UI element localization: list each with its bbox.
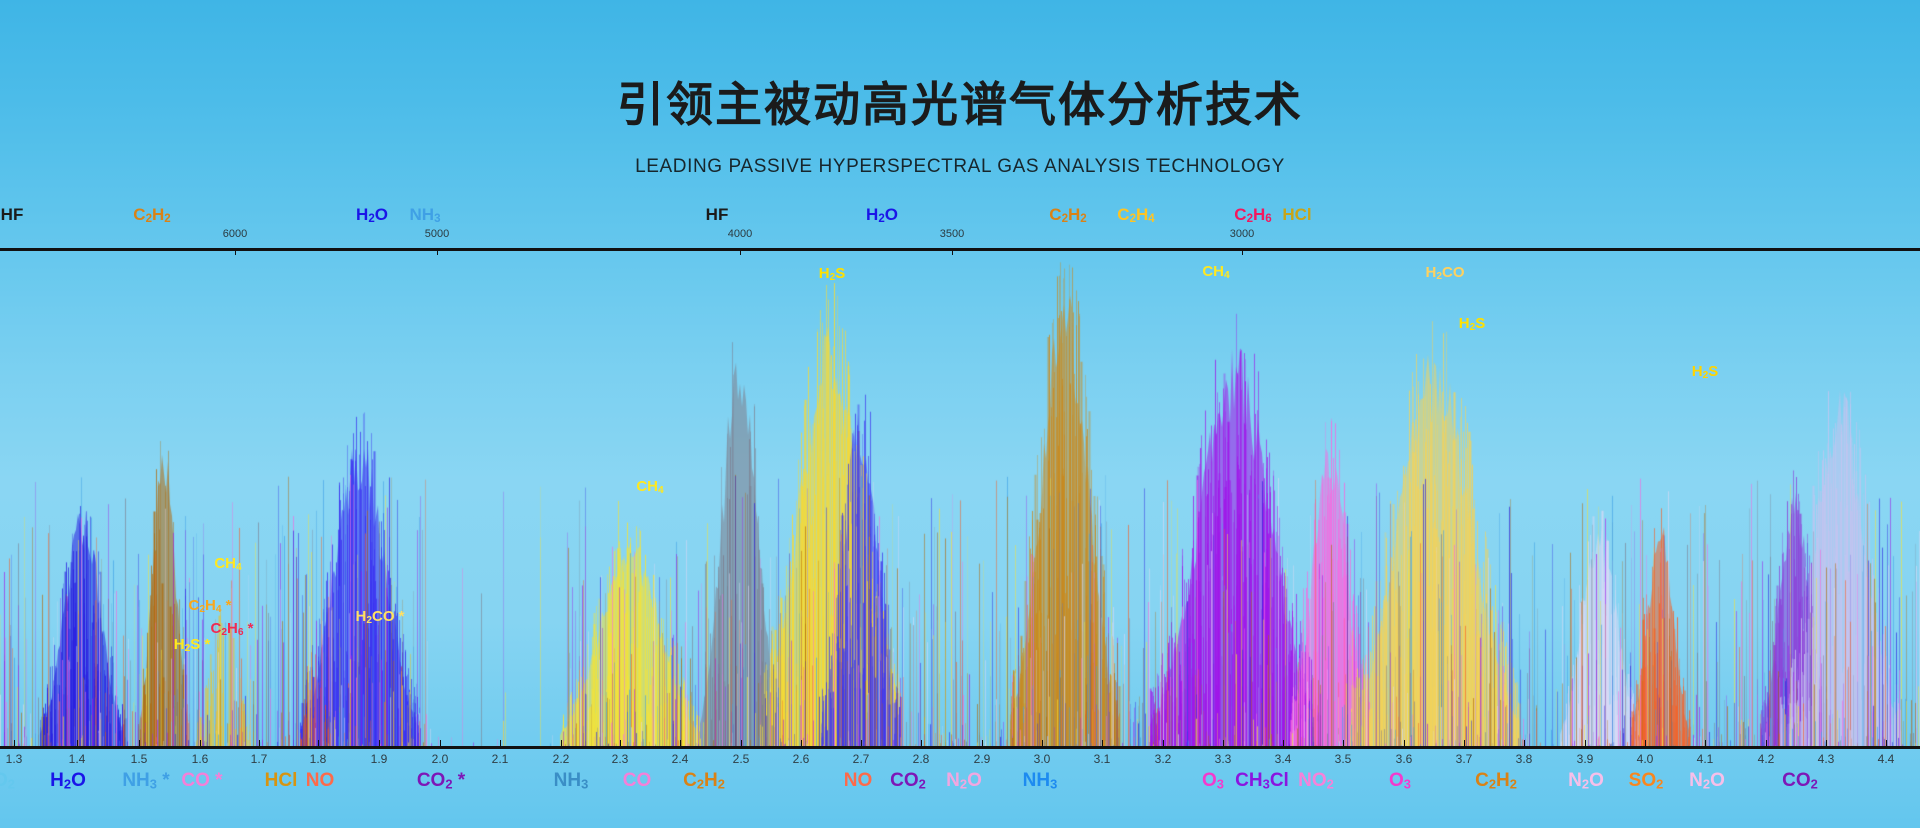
species-label-no2: NO2 <box>1298 770 1334 792</box>
axis-bottom-tick <box>861 740 862 747</box>
spectra-traces <box>0 252 1920 747</box>
axis-bottom-tick-label: 3.7 <box>1456 752 1473 766</box>
axis-bottom-tick <box>1705 740 1706 747</box>
axis-bottom-tick-label: 3.9 <box>1577 752 1594 766</box>
axis-bottom-tick <box>14 740 15 747</box>
axis-bottom-tick-label: 2.1 <box>492 752 509 766</box>
page-subtitle: LEADING PASSIVE HYPERSPECTRAL GAS ANALYS… <box>0 156 1920 178</box>
axis-bottom-tick <box>259 740 260 747</box>
axis-bottom-tick <box>801 740 802 747</box>
species-label-cos: CO * <box>181 770 222 792</box>
axis-top-tick-label: 3000 <box>1230 228 1254 240</box>
species-label-h2cos: H2CO * <box>355 608 404 626</box>
species-label-h2s: H2S <box>1692 363 1719 381</box>
species-label-c2h2: C2H2 <box>1049 205 1086 225</box>
axis-top-tick-label: 6000 <box>223 228 247 240</box>
axis-bottom-tick <box>77 740 78 747</box>
species-label-h2o: H2O <box>50 770 86 792</box>
axis-top-tick <box>952 248 953 255</box>
axis-bottom-tick <box>1826 740 1827 747</box>
species-label-o3: O3 <box>1202 770 1224 792</box>
axis-bottom-tick-label: 1.3 <box>6 752 23 766</box>
axis-top-tick-label: 4000 <box>728 228 752 240</box>
page-header: 引领主被动高光谱气体分析技术 LEADING PASSIVE HYPERSPEC… <box>0 0 1920 200</box>
axis-bottom-tick <box>561 740 562 747</box>
species-label-nh3: NH3 <box>554 770 589 792</box>
axis-bottom-tick-label: 2.3 <box>612 752 629 766</box>
axis-top-tick <box>1242 248 1243 255</box>
axis-bottom-tick <box>1042 740 1043 747</box>
axis-bottom-tick-label: 3.3 <box>1215 752 1232 766</box>
axis-bottom-tick-label: 3.6 <box>1396 752 1413 766</box>
species-label-ch3cl: CH3Cl <box>1235 770 1289 792</box>
axis-bottom-tick-label: 3.2 <box>1155 752 1172 766</box>
axis-top-tick <box>235 248 236 255</box>
species-label-no: NO <box>306 770 335 792</box>
axis-bottom-tick-label: 3.8 <box>1516 752 1533 766</box>
axis-bottom-tick-label: 3.1 <box>1094 752 1111 766</box>
axis-bottom-tick-label: 1.6 <box>192 752 209 766</box>
axis-top-tick <box>437 248 438 255</box>
axis-bottom-tick <box>1223 740 1224 747</box>
species-label-h2co: H2CO <box>1425 264 1464 282</box>
axis-bottom-tick-label: 2.0 <box>432 752 449 766</box>
axis-bottom-tick <box>440 740 441 747</box>
spectrum-canvas <box>0 252 1920 747</box>
axis-bottom-tick-label: 2.9 <box>974 752 991 766</box>
axis-bottom-tick <box>620 740 621 747</box>
axis-bottom-tick-label: 2.7 <box>853 752 870 766</box>
species-label-co2: CO2 <box>1782 770 1818 792</box>
axis-top-tick-label: 3500 <box>940 228 964 240</box>
axis-bottom-tick-label: 3.5 <box>1335 752 1352 766</box>
axis-bottom-tick-label: 1.7 <box>251 752 268 766</box>
axis-bottom-tick-label: 4.1 <box>1697 752 1714 766</box>
species-label-so2: SO2 <box>1629 770 1664 792</box>
axis-bottom-tick <box>318 740 319 747</box>
species-label-c2h2: C2H2 <box>683 770 725 792</box>
axis-bottom-tick <box>1404 740 1405 747</box>
species-label-h2o: H2O <box>866 205 898 225</box>
species-label-nh3s: NH3 * <box>122 770 169 792</box>
species-label-ch4: CH4 <box>214 555 241 573</box>
axis-bottom-tick <box>1585 740 1586 747</box>
species-label-hcl: HCl <box>1282 205 1311 225</box>
spectrum-plot <box>0 252 1920 747</box>
species-label-h2o: H2O <box>356 205 388 225</box>
axis-bottom-tick <box>1102 740 1103 747</box>
species-label-nh3: NH3 <box>1023 770 1058 792</box>
axis-bottom-tick <box>500 740 501 747</box>
species-label-c2h4: C2H4 <box>1117 205 1154 225</box>
axis-bottom-tick-label: 2.2 <box>553 752 570 766</box>
axis-bottom-tick <box>921 740 922 747</box>
axis-bottom-tick <box>1283 740 1284 747</box>
axis-bottom-tick <box>741 740 742 747</box>
species-label-ch4: CH4 <box>1202 263 1229 281</box>
axis-bottom-tick <box>200 740 201 747</box>
axis-top-tick <box>740 248 741 255</box>
species-label-h2s: H2S <box>1459 315 1486 333</box>
axis-bottom-tick <box>1645 740 1646 747</box>
axis-bottom-tick-label: 1.5 <box>131 752 148 766</box>
axis-bottom-tick-label: 3.0 <box>1034 752 1051 766</box>
axis-bottom-tick-label: 2.6 <box>793 752 810 766</box>
species-label-no: NO <box>844 770 873 792</box>
axis-top-line <box>0 248 1920 251</box>
axis-bottom-tick <box>1343 740 1344 747</box>
page-title: 引领主被动高光谱气体分析技术 <box>0 66 1920 135</box>
species-label-c2h6s: C2H6 * <box>210 620 253 638</box>
species-label-n2o: N2O <box>1689 770 1725 792</box>
species-label-o3: O3 <box>1389 770 1411 792</box>
axis-bottom-tick-label: 2.4 <box>672 752 689 766</box>
axis-bottom-tick-label: 1.8 <box>310 752 327 766</box>
species-label-co: CO <box>623 770 652 792</box>
axis-bottom-tick-label: 2.5 <box>733 752 750 766</box>
axis-top-tick-label: 5000 <box>425 228 449 240</box>
species-label-n2o: N2O <box>1568 770 1604 792</box>
species-label-h2s: H2S <box>819 265 846 283</box>
axis-bottom-tick-label: 2.8 <box>913 752 930 766</box>
species-label-o2: O2 <box>0 770 15 792</box>
axis-bottom-tick <box>1464 740 1465 747</box>
axis-bottom-tick-label: 1.4 <box>69 752 86 766</box>
species-label-co2s: CO2 * <box>417 770 465 792</box>
species-label-c2h2: C2H2 <box>1475 770 1517 792</box>
axis-bottom-tick <box>1766 740 1767 747</box>
axis-bottom-tick <box>1163 740 1164 747</box>
axis-bottom-tick-label: 3.4 <box>1275 752 1292 766</box>
species-label-c2h6: C2H6 <box>1234 205 1271 225</box>
axis-bottom-tick-label: 1.9 <box>371 752 388 766</box>
species-label-h2ss: H2S * <box>174 636 211 654</box>
axis-bottom-line <box>0 746 1920 749</box>
axis-bottom-tick-label: 4.4 <box>1878 752 1895 766</box>
axis-bottom-tick <box>379 740 380 747</box>
axis-bottom-tick-label: 4.0 <box>1637 752 1654 766</box>
axis-bottom-tick-label: 4.3 <box>1818 752 1835 766</box>
species-label-c2h2: C2H2 <box>133 205 170 225</box>
species-label-n2o: N2O <box>946 770 982 792</box>
axis-bottom-tick <box>680 740 681 747</box>
axis-bottom-tick <box>982 740 983 747</box>
axis-bottom-tick <box>1886 740 1887 747</box>
species-label-co2: CO2 <box>890 770 926 792</box>
species-label-ch4: CH4 <box>636 478 663 496</box>
species-label-hf: HF <box>1 205 24 225</box>
species-label-hcl: HCl <box>265 770 298 792</box>
species-label-hf: HF <box>706 205 729 225</box>
axis-bottom-tick <box>139 740 140 747</box>
axis-bottom-tick <box>1524 740 1525 747</box>
species-label-nh3: NH3 <box>410 205 441 225</box>
species-label-c2h4s: C2H4 * <box>188 597 231 615</box>
axis-bottom-tick-label: 4.2 <box>1758 752 1775 766</box>
